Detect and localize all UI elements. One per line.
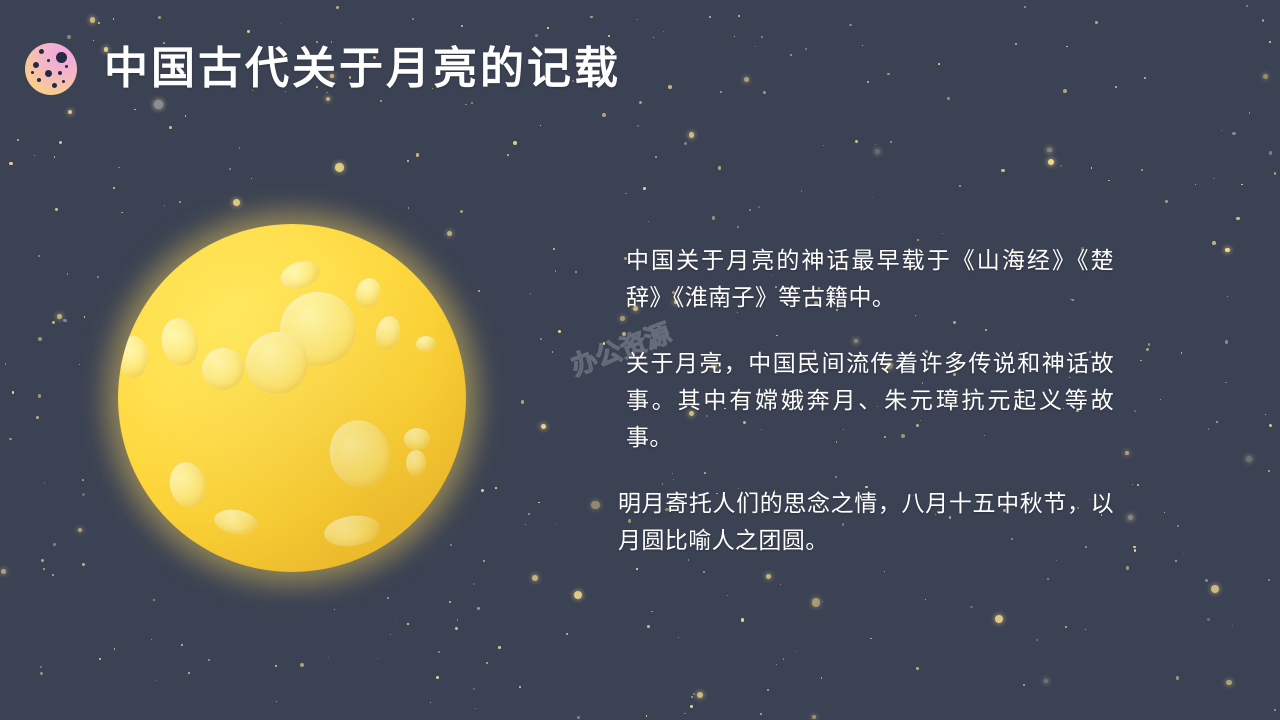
star [229, 168, 231, 170]
moon-crater [280, 292, 356, 366]
star [812, 715, 816, 719]
crater-dot [65, 65, 68, 68]
star [1207, 618, 1210, 621]
slide-canvas: 中国古代关于月亮的记载 办公资源 中国关于月亮的神话最早载于《山海经》《楚辞》《… [0, 0, 1280, 720]
star [890, 141, 892, 143]
star [495, 487, 497, 489]
star [938, 63, 940, 65]
star [181, 644, 183, 646]
star [436, 676, 439, 679]
star [538, 502, 539, 503]
star [1211, 585, 1220, 594]
star [1249, 112, 1250, 113]
star [36, 416, 39, 419]
star [541, 424, 546, 429]
star [1225, 340, 1229, 344]
star [57, 314, 62, 319]
moon-crater [416, 336, 436, 352]
star [849, 24, 852, 27]
star [525, 524, 526, 525]
moon-crater [406, 450, 426, 476]
star [1146, 348, 1149, 351]
star [528, 513, 530, 515]
star [718, 166, 721, 169]
star [151, 639, 152, 640]
moon-crater [322, 413, 398, 495]
star [776, 664, 778, 666]
star [738, 15, 740, 17]
star [1263, 74, 1269, 80]
paragraph: 明月寄托人们的思念之情，八月十五中秋节，以月圆比喻人之团圆。 [618, 485, 1114, 559]
star [1115, 86, 1116, 87]
page-title: 中国古代关于月亮的记载 [104, 42, 621, 96]
star [688, 559, 689, 560]
star [648, 221, 649, 222]
star [1160, 399, 1162, 401]
full-moon-illustration [118, 224, 466, 572]
star [862, 45, 864, 47]
star [1133, 546, 1136, 549]
star [59, 141, 62, 144]
star [1236, 217, 1239, 220]
star [179, 201, 181, 203]
star [1091, 167, 1093, 169]
star [555, 270, 556, 271]
moon-crater [165, 458, 211, 511]
star [763, 91, 766, 94]
moon-crater [246, 332, 308, 394]
crater-dot [33, 62, 39, 68]
star [1221, 130, 1223, 132]
star [693, 693, 695, 695]
star [1246, 456, 1252, 462]
star [328, 657, 329, 658]
star [377, 658, 378, 659]
star [532, 575, 538, 581]
star [1023, 684, 1025, 686]
star [477, 607, 480, 610]
star [41, 559, 44, 562]
star [1134, 549, 1137, 552]
star [925, 599, 926, 600]
star [1024, 6, 1026, 8]
star [552, 351, 553, 352]
star [390, 634, 391, 635]
star [1165, 200, 1168, 203]
star [547, 27, 549, 29]
moon-dotted-icon [25, 43, 77, 95]
star [637, 19, 638, 20]
star [9, 162, 13, 166]
star [153, 599, 155, 601]
star [1048, 159, 1054, 165]
star [1269, 41, 1272, 44]
star [457, 619, 459, 621]
star [970, 606, 973, 609]
star [1213, 178, 1215, 180]
star [154, 100, 163, 109]
star [855, 140, 858, 143]
star [1126, 566, 1130, 570]
star [63, 319, 67, 323]
star [54, 156, 56, 158]
star [12, 391, 15, 394]
star [727, 595, 728, 596]
star [709, 16, 711, 18]
crater-dot [37, 78, 41, 82]
star [1274, 709, 1276, 711]
star [1015, 43, 1017, 45]
star [801, 190, 802, 191]
star [558, 330, 562, 334]
star [1227, 296, 1228, 297]
star [1056, 560, 1057, 561]
star [780, 584, 781, 585]
star [1148, 343, 1151, 346]
star [690, 705, 693, 708]
star [1232, 625, 1233, 626]
star [276, 701, 277, 702]
star [5, 363, 6, 364]
star [1042, 579, 1043, 580]
star [67, 35, 71, 39]
body-copy: 中国关于月亮的神话最早载于《山海经》《楚辞》《淮南子》等古籍中。 关于月亮，中国… [618, 242, 1114, 559]
star [872, 197, 873, 198]
star [821, 677, 822, 678]
star [43, 568, 45, 570]
star [97, 276, 99, 278]
star [637, 125, 639, 127]
star [712, 216, 715, 219]
star [455, 627, 458, 630]
moon-crater [373, 314, 403, 352]
star [1268, 579, 1270, 581]
star [113, 18, 115, 20]
star [823, 145, 824, 146]
star [766, 574, 771, 579]
star [486, 662, 489, 665]
star [602, 113, 606, 117]
star [412, 18, 414, 20]
crater-dot [62, 80, 65, 83]
star [1063, 89, 1067, 93]
star [93, 40, 95, 42]
star [1216, 421, 1218, 423]
star [1144, 77, 1146, 79]
star [647, 625, 650, 628]
star [535, 34, 538, 37]
moon-crater [353, 276, 384, 311]
star [473, 688, 475, 690]
star [300, 663, 304, 667]
star [52, 321, 55, 324]
star [1274, 172, 1277, 175]
moon-crater [212, 506, 259, 537]
star [98, 22, 100, 24]
star [326, 97, 330, 101]
star [280, 23, 282, 25]
star [158, 16, 161, 19]
star [577, 716, 580, 719]
star [697, 692, 703, 698]
star [917, 239, 919, 241]
star [749, 209, 751, 211]
star [82, 479, 84, 481]
star [947, 97, 950, 100]
star [1176, 676, 1180, 680]
star [84, 316, 85, 317]
crater-dot [45, 70, 52, 77]
star [55, 208, 57, 210]
star [498, 646, 501, 649]
star [82, 493, 85, 496]
star [1269, 424, 1272, 427]
star [916, 667, 919, 670]
star [758, 206, 760, 208]
star [734, 36, 736, 38]
moon-crater [118, 336, 148, 378]
star [336, 6, 339, 9]
star [1137, 484, 1139, 486]
star [703, 571, 705, 573]
star [884, 571, 885, 572]
star [655, 156, 657, 158]
star [438, 651, 440, 653]
star [822, 601, 823, 602]
star [9, 438, 12, 441]
star [430, 702, 431, 703]
star [408, 207, 410, 209]
star [875, 144, 876, 145]
star [473, 583, 475, 585]
star [90, 17, 96, 23]
star [188, 672, 190, 674]
star [118, 167, 120, 169]
star [783, 658, 785, 660]
star [1232, 132, 1236, 136]
star [113, 187, 115, 189]
star [591, 501, 600, 510]
star [625, 193, 627, 195]
star [449, 601, 452, 604]
star [38, 394, 41, 397]
star [653, 37, 654, 38]
star [741, 618, 744, 621]
star [790, 54, 792, 56]
star [521, 400, 525, 404]
star [553, 248, 555, 250]
star [812, 598, 821, 607]
star [239, 147, 241, 149]
star [1195, 184, 1196, 185]
star [796, 651, 798, 653]
star [1128, 515, 1133, 520]
star [540, 125, 541, 126]
star [52, 574, 54, 576]
star [416, 153, 420, 157]
moon-crater [157, 315, 202, 369]
star [608, 35, 610, 37]
star [156, 680, 157, 681]
crater-dot [52, 83, 57, 88]
moon-crater [404, 428, 430, 450]
star [1265, 414, 1266, 415]
star [1269, 151, 1273, 155]
star [1241, 184, 1243, 186]
star [507, 154, 509, 156]
star [335, 163, 344, 172]
star [53, 543, 56, 546]
star [1001, 169, 1005, 173]
star [185, 115, 187, 117]
star [636, 568, 638, 570]
star [1134, 410, 1136, 412]
star [689, 132, 695, 138]
star [82, 563, 85, 566]
star [121, 212, 122, 213]
star [208, 659, 210, 661]
star [540, 338, 542, 340]
star [755, 46, 757, 48]
star [1044, 679, 1049, 684]
star [67, 273, 69, 275]
moon-crater [277, 256, 323, 293]
star [407, 623, 409, 625]
star [1226, 680, 1232, 686]
star [720, 91, 722, 93]
star [471, 102, 473, 104]
crater-dot [39, 49, 44, 54]
star [1246, 5, 1248, 7]
crater-dot [47, 59, 50, 62]
star [1065, 626, 1068, 629]
star [1132, 484, 1133, 485]
star [1141, 169, 1143, 171]
star [134, 109, 135, 110]
star [1108, 180, 1109, 181]
star [767, 689, 769, 691]
star [407, 160, 409, 162]
crater-dot [31, 71, 34, 74]
star [1225, 248, 1230, 253]
star [942, 233, 944, 235]
star [99, 658, 101, 660]
star [380, 100, 383, 103]
star [396, 621, 397, 622]
star [603, 342, 605, 344]
star [1183, 553, 1184, 554]
star [40, 672, 43, 675]
star [1208, 428, 1210, 430]
star [691, 696, 693, 698]
star [17, 139, 19, 141]
star [1140, 360, 1141, 361]
star [684, 142, 687, 145]
star [1095, 21, 1098, 24]
star [887, 73, 890, 76]
star [519, 686, 522, 689]
star [643, 187, 646, 190]
star [275, 665, 277, 667]
star [566, 633, 568, 635]
star [247, 30, 250, 33]
star [870, 638, 871, 639]
star [38, 255, 40, 257]
star [1125, 451, 1130, 456]
star [1066, 46, 1067, 47]
star [44, 482, 46, 484]
star [40, 666, 42, 668]
star [461, 25, 463, 27]
star [475, 708, 476, 709]
star [737, 226, 739, 228]
star [574, 591, 582, 599]
star [575, 271, 577, 273]
star [959, 185, 961, 187]
star [1, 569, 6, 574]
star [1085, 629, 1086, 630]
star [995, 615, 1004, 624]
paragraph: 中国关于月亮的神话最早载于《山海经》《楚辞》《淮南子》等古籍中。 [618, 242, 1114, 316]
star [744, 77, 750, 83]
star [465, 104, 467, 106]
star [875, 149, 881, 155]
star [646, 715, 648, 717]
star [761, 36, 763, 38]
star [387, 597, 389, 599]
star [483, 560, 485, 562]
crater-dot [56, 52, 67, 63]
star [68, 110, 72, 114]
star [1175, 560, 1177, 562]
star [663, 31, 664, 32]
star [1268, 470, 1270, 472]
star [639, 101, 642, 104]
moon-crater [202, 348, 244, 390]
star [513, 141, 517, 145]
paragraph: 关于月亮，中国民间流传着许多传说和神话故事。其中有嫦娥奔月、朱元璋抗元起义等故事… [618, 345, 1114, 456]
star [1205, 579, 1208, 582]
star [164, 205, 166, 207]
star [867, 81, 869, 83]
star [1036, 639, 1038, 641]
star [684, 713, 685, 714]
star [760, 713, 762, 715]
star [78, 528, 82, 532]
star [169, 126, 172, 129]
star [1164, 512, 1165, 513]
star [460, 210, 463, 213]
star [1225, 382, 1227, 384]
star [1177, 525, 1179, 527]
star [805, 48, 807, 50]
star [678, 637, 680, 639]
star [1047, 148, 1052, 153]
moon-body [118, 224, 466, 572]
star [1262, 19, 1265, 22]
star [251, 178, 253, 180]
star [556, 524, 557, 525]
star [1060, 165, 1062, 167]
star [34, 155, 35, 156]
star [1181, 352, 1183, 354]
star [530, 293, 531, 294]
moon-crater [322, 512, 382, 550]
star [651, 611, 652, 612]
star [38, 337, 42, 341]
crater-dot [58, 71, 62, 75]
star [114, 648, 116, 650]
